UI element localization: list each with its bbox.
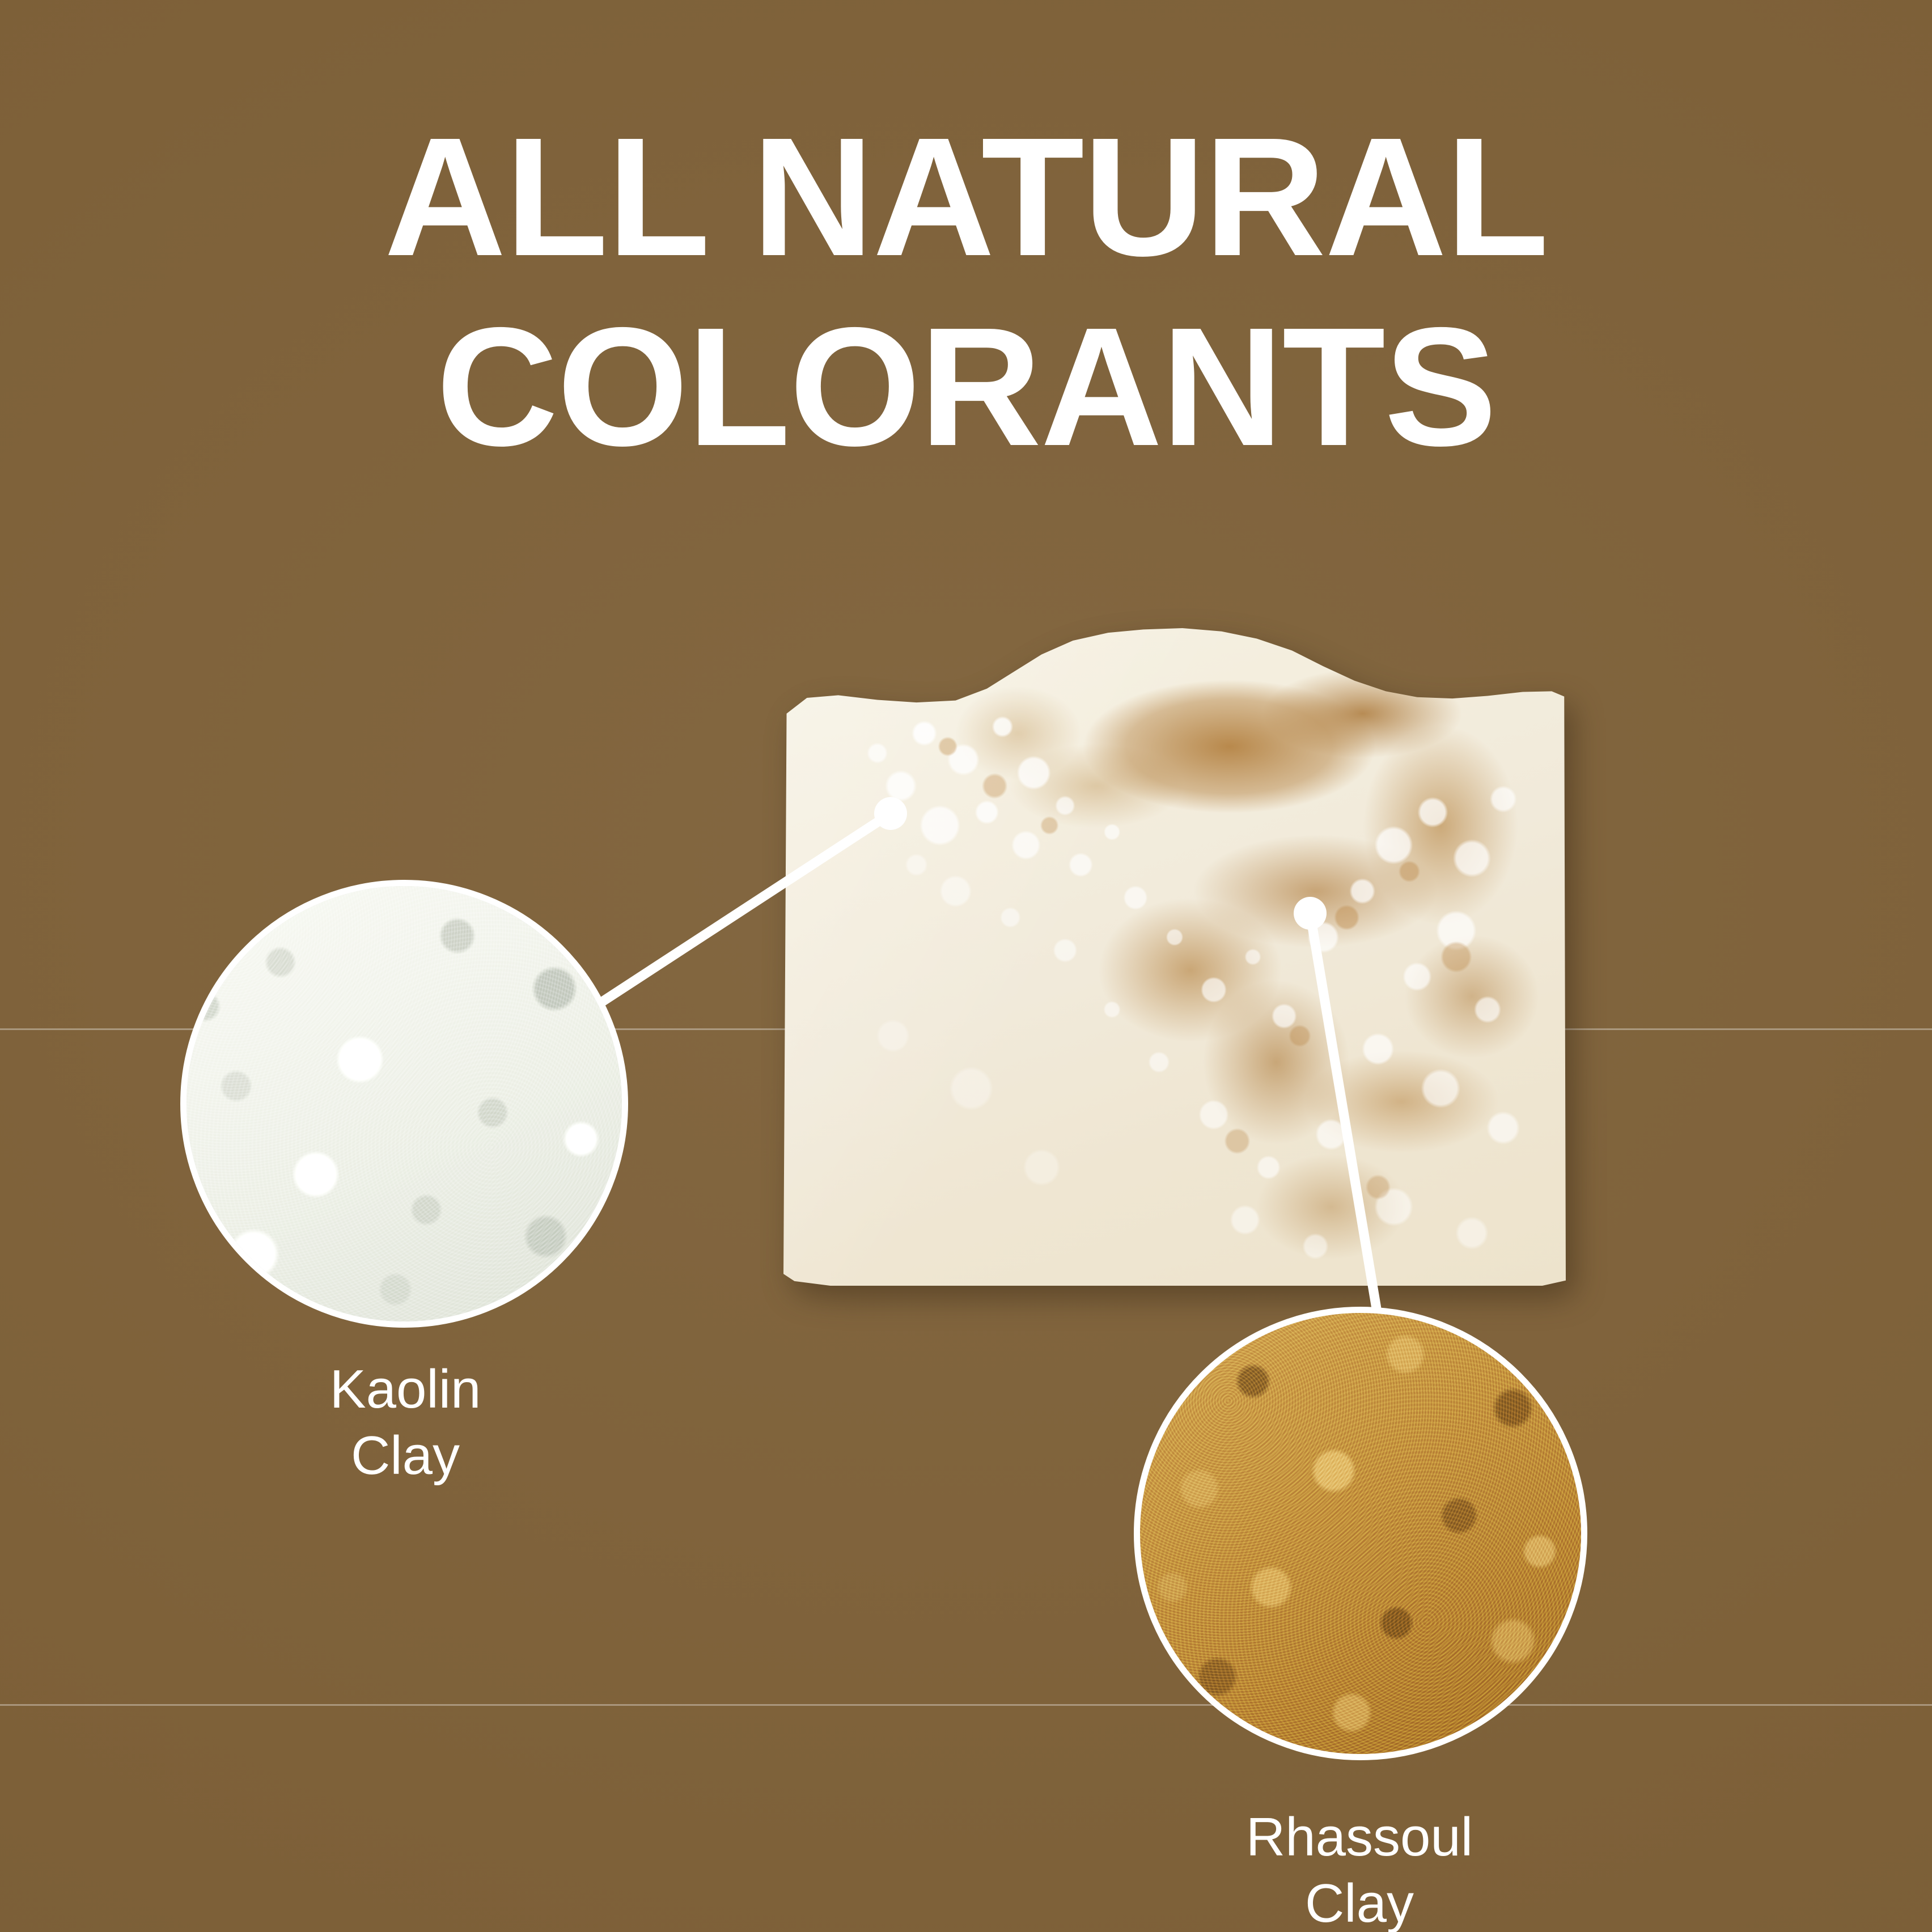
soap-bar-image <box>783 628 1566 1286</box>
rhassoul-clay-grain-overlay <box>1140 1313 1581 1754</box>
headline-line-1: ALL NATURAL <box>0 113 1932 281</box>
ingredient-label-kaolin: Kaolin Clay <box>179 1356 632 1489</box>
poster-canvas: ALL NATURAL COLORANTS Kaolin Clay Rhasso… <box>0 0 1932 1932</box>
kaolin-clay-grain-overlay <box>187 886 622 1321</box>
soap-sheen-highlight <box>783 628 1566 1286</box>
ingredient-circle-kaolin[interactable] <box>180 880 628 1328</box>
ingredient-circle-rhassoul[interactable] <box>1134 1307 1587 1760</box>
headline-line-2: COLORANTS <box>0 303 1932 471</box>
kaolin-label-line-1: Kaolin <box>179 1356 632 1422</box>
rhassoul-label-line-1: Rhassoul <box>1133 1804 1586 1870</box>
soap-bar-body <box>783 628 1566 1286</box>
ingredient-label-rhassoul: Rhassoul Clay <box>1133 1804 1586 1932</box>
rhassoul-label-line-2: Clay <box>1133 1870 1586 1932</box>
kaolin-label-line-2: Clay <box>179 1422 632 1489</box>
page-title: ALL NATURAL COLORANTS <box>0 113 1932 471</box>
divider-lower <box>0 1704 1932 1706</box>
callout-dot-kaolin[interactable] <box>874 797 907 830</box>
callout-dot-rhassoul[interactable] <box>1294 897 1327 930</box>
